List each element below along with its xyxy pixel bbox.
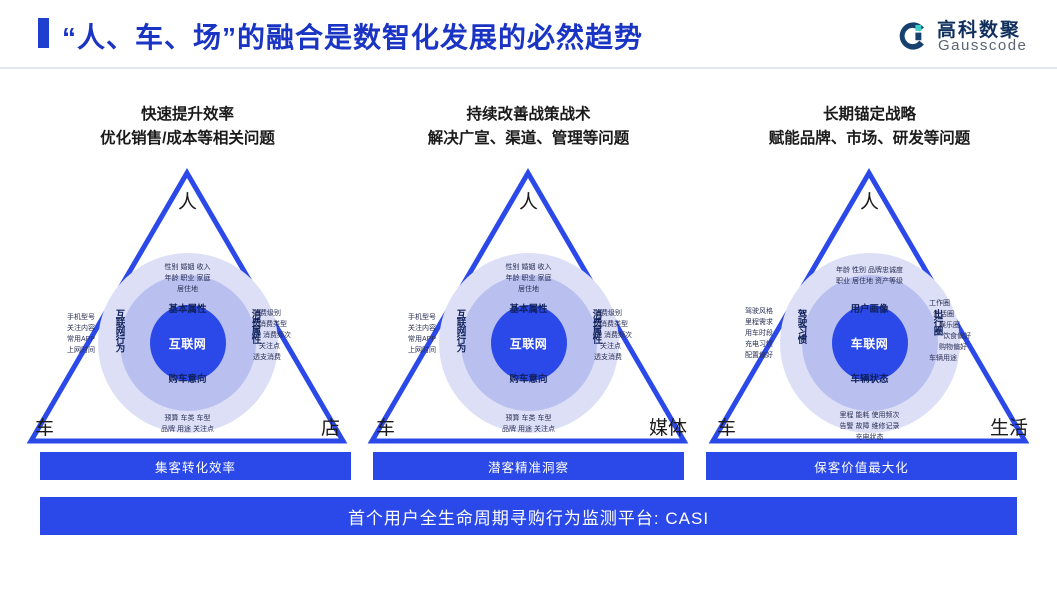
satellite-bottom-3-row-1: 告警 故障 维修记录 [840,421,900,432]
column-heading-2-line2: 解决广宣、渠道、管理等问题 [366,127,691,151]
ring-core-label-2: 互联网 [491,305,567,381]
satellite-right-3-row-5: 车辆用途 [929,353,971,364]
satellite-top-1-row-2: 居住地 [165,284,211,295]
column-heading-3: 长期锚定战略 赋能品牌、市场、研发等问题 [707,103,1032,151]
satellite-left-1-row-0: 手机型号 [67,312,95,323]
satellite-left-2-row-2: 常用APP [408,334,436,345]
ring-label-left-2: 互联网行为 [453,309,467,352]
brand-logo: 高科数聚 Gausscode [895,13,1035,59]
ring-label-bottom-3: 车辆状态 [850,371,888,385]
satellite-right-3-row-1: 生活圈 [929,309,971,320]
satellite-right-3: 工作圈 生活圈 娱乐圈 饮食偏好 购物偏好 车辆用途 [929,298,971,364]
satellite-right-2-row-4: 透支消费 [594,352,632,363]
satellite-right-1-row-3: 关注点 [253,341,291,352]
satellite-right-3-row-4: 购物偏好 [929,342,971,353]
satellite-top-3-row-0: 年龄 性别 品牌忠诚度 [836,265,903,276]
satellite-right-1-row-0: 消费级别 [253,308,291,319]
triangle-2-right-label: 媒体 [649,413,687,440]
satellite-left-3-row-4: 配置偏好 [745,350,773,361]
satellite-bottom-3-row-0: 里程 能耗 使用频次 [840,410,900,421]
satellite-top-3: 年龄 性别 品牌忠诚度 职业 居住地 资产等级 [836,265,903,287]
satellite-left-2-row-3: 上网时间 [408,345,436,356]
satellite-top-1-row-1: 年龄 职业 家庭 [165,273,211,284]
panel-1: 人 车 店 互联网 基本属性 购车意向 互联网行为 消费属性 性别 婚姻 收入 … [25,165,350,450]
column-heading-3-line1: 长期锚定战略 [707,103,1032,127]
satellite-bottom-1: 预算 车类 车型 品牌 用途 关注点 [161,413,214,435]
column-heading-3-line2: 赋能品牌、市场、研发等问题 [707,127,1032,151]
satellite-top-3-row-1: 职业 居住地 资产等级 [836,276,903,287]
satellite-bottom-1-row-1: 品牌 用途 关注点 [161,424,214,435]
column-heading-2: 持续改善战策战术 解决广宣、渠道、管理等问题 [366,103,691,151]
satellite-left-3-row-2: 用车时段 [745,328,773,339]
panel-3: 人 车 生活 车联网 用户画像 车辆状态 驾驶习惯 出行圈 年龄 性别 品牌忠诚… [707,165,1032,450]
satellite-left-3-row-0: 驾驶风格 [745,306,773,317]
satellite-top-1-row-0: 性别 婚姻 收入 [165,262,211,273]
ring-label-top-2: 基本属性 [509,301,547,315]
ring-label-top-3: 用户画像 [850,301,888,315]
ring-label-left-3: 驾驶习惯 [794,309,808,343]
triangle-1-right-label: 店 [321,413,340,440]
satellite-bottom-3: 里程 能耗 使用频次 告警 故障 维修记录 充电状态 [840,410,900,443]
satellite-right-3-row-3: 饮食偏好 [929,331,971,342]
summary-bar-2: 潜客精准洞察 [373,452,684,480]
satellite-top-2-row-1: 年龄 职业 家庭 [506,273,552,284]
satellite-bottom-3-row-2: 充电状态 [840,432,900,443]
satellite-right-3-row-0: 工作圈 [929,298,971,309]
gausscode-mark-icon [895,19,929,53]
summary-bar-3: 保客价值最大化 [706,452,1017,480]
satellite-right-1: 消费级别 消费类型 消费频次 关注点 透支消费 [253,308,291,363]
satellite-right-2-row-2: 消费频次 [594,330,632,341]
satellite-bottom-2-row-0: 预算 车类 车型 [502,413,555,424]
satellite-right-1-row-1: 消费类型 [253,319,291,330]
triangle-2-apex-label: 人 [519,187,538,214]
summary-bar-1: 集客转化效率 [40,452,351,480]
title-accent-mark [38,18,49,48]
satellite-right-2: 消费级别 消费类型 消费频次 关注点 透支消费 [594,308,632,363]
ring-label-top-1: 基本属性 [168,301,206,315]
satellite-left-1-row-2: 常用APP [67,334,95,345]
ring-core-label-1: 互联网 [150,305,226,381]
satellite-left-3-row-1: 里程需求 [745,317,773,328]
column-heading-1: 快速提升效率 优化销售/成本等相关问题 [25,103,350,151]
ring-core-label-3: 车联网 [832,305,908,381]
satellite-right-1-row-2: 消费频次 [253,330,291,341]
ring-label-bottom-2: 购车意向 [509,371,547,385]
satellite-left-3: 驾驶风格 里程需求 用车时段 充电习惯 配置偏好 [745,306,773,361]
triangle-1-left-label: 车 [35,413,54,440]
satellite-left-1-row-3: 上网时间 [67,345,95,356]
triangle-1-apex-label: 人 [178,187,197,214]
satellite-right-2-row-3: 关注点 [594,341,632,352]
satellite-top-2-row-0: 性别 婚姻 收入 [506,262,552,273]
satellite-bottom-2: 预算 车类 车型 品牌 用途 关注点 [502,413,555,435]
footer-platform-bar: 首个用户全生命周期寻购行为监测平台: CASI [40,497,1017,535]
triangle-3-apex-label: 人 [860,187,879,214]
ring-label-bottom-1: 购车意向 [168,371,206,385]
satellite-right-3-row-2: 娱乐圈 [929,320,971,331]
satellite-top-2-row-2: 居住地 [506,284,552,295]
column-heading-2-line1: 持续改善战策战术 [366,103,691,127]
triangle-3-left-label: 车 [717,413,736,440]
satellite-left-2-row-1: 关注内容 [408,323,436,334]
satellite-bottom-1-row-0: 预算 车类 车型 [161,413,214,424]
satellite-right-2-row-1: 消费类型 [594,319,632,330]
satellite-right-2-row-0: 消费级别 [594,308,632,319]
satellite-right-1-row-4: 透支消费 [253,352,291,363]
column-heading-1-line2: 优化销售/成本等相关问题 [25,127,350,151]
header-divider [0,67,1057,69]
triangle-3-right-label: 生活 [990,413,1028,440]
logo-text-en: Gausscode [938,37,1027,54]
satellite-left-2-row-0: 手机型号 [408,312,436,323]
column-heading-1-line1: 快速提升效率 [25,103,350,127]
satellite-left-1-row-1: 关注内容 [67,323,95,334]
satellite-left-2: 手机型号 关注内容 常用APP 上网时间 [408,312,436,356]
triangle-2-left-label: 车 [376,413,395,440]
ring-label-left-1: 互联网行为 [112,309,126,352]
page-header: “人、车、场”的融合是数智化发展的必然趋势 高科数聚 Gausscode [0,0,1057,68]
satellite-bottom-2-row-1: 品牌 用途 关注点 [502,424,555,435]
page-title: “人、车、场”的融合是数智化发展的必然趋势 [62,16,643,56]
panel-2: 人 车 媒体 互联网 基本属性 购车意向 互联网行为 消费属性 性别 婚姻 收入… [366,165,691,450]
satellite-top-2: 性别 婚姻 收入 年龄 职业 家庭 居住地 [506,262,552,295]
satellite-top-1: 性别 婚姻 收入 年龄 职业 家庭 居住地 [165,262,211,295]
satellite-left-3-row-3: 充电习惯 [745,339,773,350]
satellite-left-1: 手机型号 关注内容 常用APP 上网时间 [67,312,95,356]
